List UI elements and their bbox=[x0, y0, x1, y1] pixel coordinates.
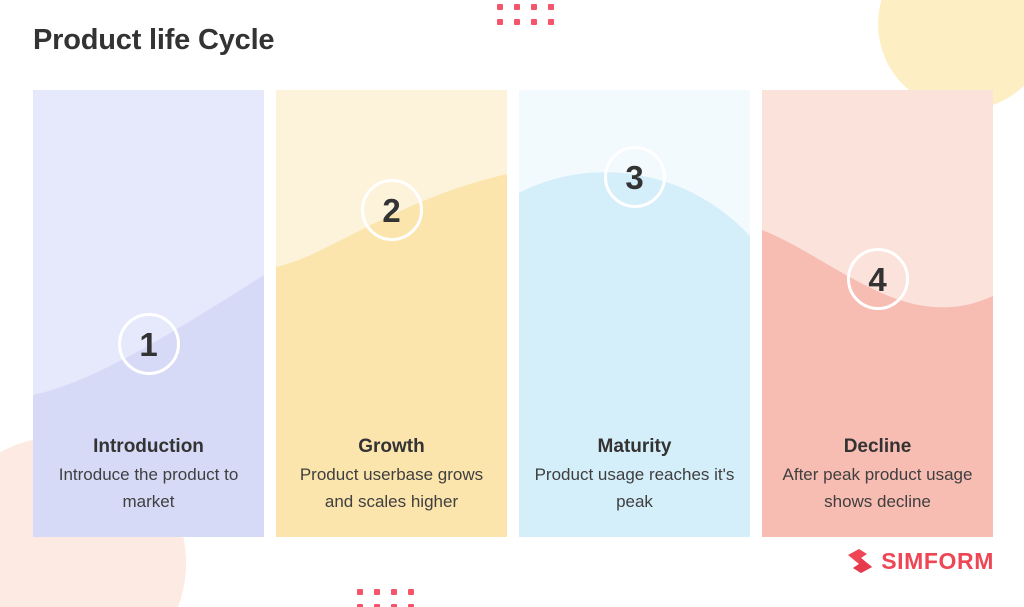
stage-number-badge: 4 bbox=[847, 248, 909, 310]
stage-card-introduction[interactable]: 1 Introduction Introduce the product to … bbox=[33, 90, 264, 537]
stage-title: Growth bbox=[284, 435, 499, 459]
dot bbox=[531, 19, 537, 25]
stage-card-growth[interactable]: 2 Growth Product userbase grows and scal… bbox=[276, 90, 507, 537]
dot bbox=[391, 589, 397, 595]
stage-description: Product userbase grows and scales higher bbox=[284, 462, 499, 515]
page-title: Product life Cycle bbox=[33, 24, 274, 57]
dot-grid-bottom-icon bbox=[357, 589, 414, 607]
stage-text-block: Decline After peak product usage shows d… bbox=[762, 435, 993, 515]
dot bbox=[548, 19, 554, 25]
stage-number: 3 bbox=[625, 161, 643, 194]
stage-number-badge: 3 bbox=[604, 146, 666, 208]
dot bbox=[514, 4, 520, 10]
stage-title: Introduction bbox=[41, 435, 256, 459]
stage-title: Maturity bbox=[527, 435, 742, 459]
stage-description: Introduce the product to market bbox=[41, 462, 256, 515]
stage-text-block: Growth Product userbase grows and scales… bbox=[276, 435, 507, 515]
stage-title: Decline bbox=[770, 435, 985, 459]
simform-logo-text: SIMFORM bbox=[881, 550, 994, 573]
stage-number: 4 bbox=[868, 263, 886, 296]
stage-card-maturity[interactable]: 3 Maturity Product usage reaches it's pe… bbox=[519, 90, 750, 537]
stage-card-decline[interactable]: 4 Decline After peak product usage shows… bbox=[762, 90, 993, 537]
dot bbox=[374, 589, 380, 595]
stage-number: 2 bbox=[382, 194, 400, 227]
stage-text-block: Maturity Product usage reaches it's peak bbox=[519, 435, 750, 515]
dot bbox=[497, 19, 503, 25]
dot bbox=[497, 4, 503, 10]
stage-description: After peak product usage shows decline bbox=[770, 462, 985, 515]
stage-number-badge: 2 bbox=[361, 179, 423, 241]
dot bbox=[531, 4, 537, 10]
infographic-canvas: Product life Cycle 1 Introducti bbox=[0, 0, 1024, 607]
dot bbox=[548, 4, 554, 10]
lifecycle-stages: 1 Introduction Introduce the product to … bbox=[33, 90, 993, 537]
dot-grid-top-icon bbox=[497, 4, 554, 25]
stage-number: 1 bbox=[139, 328, 157, 361]
stage-number-badge: 1 bbox=[118, 313, 180, 375]
stage-description: Product usage reaches it's peak bbox=[527, 462, 742, 515]
simform-logo-icon bbox=[846, 547, 874, 575]
simform-logo[interactable]: SIMFORM bbox=[846, 547, 994, 575]
dot bbox=[357, 589, 363, 595]
dot bbox=[408, 589, 414, 595]
stage-text-block: Introduction Introduce the product to ma… bbox=[33, 435, 264, 515]
dot bbox=[514, 19, 520, 25]
